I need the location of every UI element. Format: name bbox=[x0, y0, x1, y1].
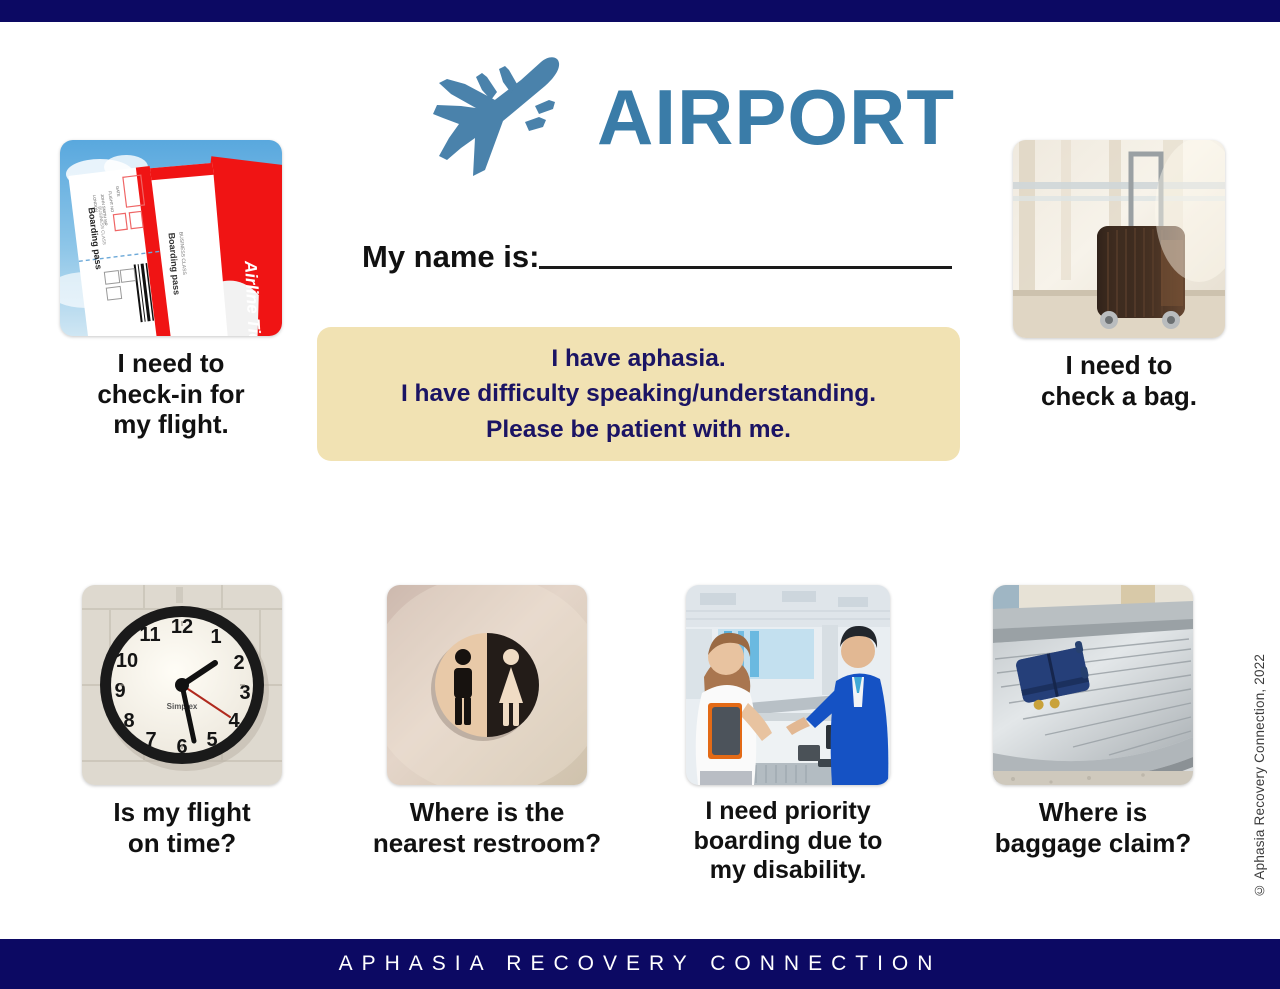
card-caption: I need to check a bag. bbox=[1041, 350, 1197, 411]
svg-text:9: 9 bbox=[114, 680, 125, 702]
name-field-label: My name is: bbox=[362, 240, 539, 274]
top-accent-bar bbox=[0, 0, 1280, 22]
copyright-notice: © Aphasia Recovery Connection, 2022 bbox=[1252, 598, 1276, 898]
svg-text:2: 2 bbox=[233, 652, 244, 674]
svg-text:8: 8 bbox=[123, 710, 134, 732]
card-caption: Where is the nearest restroom? bbox=[373, 797, 601, 858]
aphasia-line-2: I have difficulty speaking/understanding… bbox=[401, 376, 876, 412]
svg-text:4: 4 bbox=[228, 710, 240, 732]
name-input-blank-line[interactable] bbox=[539, 266, 952, 269]
footer-bar: APHASIA RECOVERY CONNECTION bbox=[0, 939, 1280, 989]
page-title: AIRPORT bbox=[597, 78, 955, 156]
svg-text:12: 12 bbox=[171, 616, 193, 638]
aphasia-callout: I have aphasia. I have difficulty speaki… bbox=[317, 327, 960, 461]
name-field-row: My name is: bbox=[362, 240, 952, 274]
card-baggage-claim[interactable]: Where is baggage claim? bbox=[962, 585, 1224, 858]
check-in-counter-photo bbox=[686, 585, 890, 785]
restroom-sign-photo bbox=[387, 585, 587, 785]
card-caption: I need priority boarding due to my disab… bbox=[694, 797, 883, 886]
svg-text:5: 5 bbox=[206, 729, 217, 751]
card-caption: Where is baggage claim? bbox=[995, 797, 1192, 858]
svg-text:1: 1 bbox=[210, 626, 221, 648]
svg-text:11: 11 bbox=[139, 624, 160, 646]
aphasia-line-3: Please be patient with me. bbox=[486, 412, 791, 448]
card-check-bag[interactable]: I need to check a bag. bbox=[1000, 140, 1238, 411]
wall-clock-photo: 12 1 2 3 4 5 6 7 8 9 10 11 bbox=[82, 585, 282, 785]
footer-organization: APHASIA RECOVERY CONNECTION bbox=[339, 952, 942, 976]
card-restroom[interactable]: Where is the nearest restroom? bbox=[358, 585, 616, 858]
suitcase-photo bbox=[1013, 140, 1225, 338]
card-flight-on-time[interactable]: 12 1 2 3 4 5 6 7 8 9 10 11 bbox=[62, 585, 302, 858]
page-header: AIRPORT bbox=[425, 52, 925, 182]
svg-text:7: 7 bbox=[145, 729, 156, 751]
card-caption: Is my flight on time? bbox=[113, 797, 250, 858]
svg-text:10: 10 bbox=[116, 650, 138, 672]
card-priority-boarding[interactable]: I need priority boarding due to my disab… bbox=[672, 585, 904, 886]
svg-text:Simplex: Simplex bbox=[167, 702, 198, 711]
card-check-in[interactable]: Airline Ticket Boarding pass BUSINESS CL… bbox=[48, 140, 294, 440]
card-caption: I need to check-in for my flight. bbox=[97, 348, 244, 440]
aphasia-line-1: I have aphasia. bbox=[551, 341, 725, 377]
boarding-passes-photo: Airline Ticket Boarding pass BUSINESS CL… bbox=[60, 140, 282, 336]
airplane-icon bbox=[425, 52, 585, 182]
baggage-carousel-photo bbox=[993, 585, 1193, 785]
